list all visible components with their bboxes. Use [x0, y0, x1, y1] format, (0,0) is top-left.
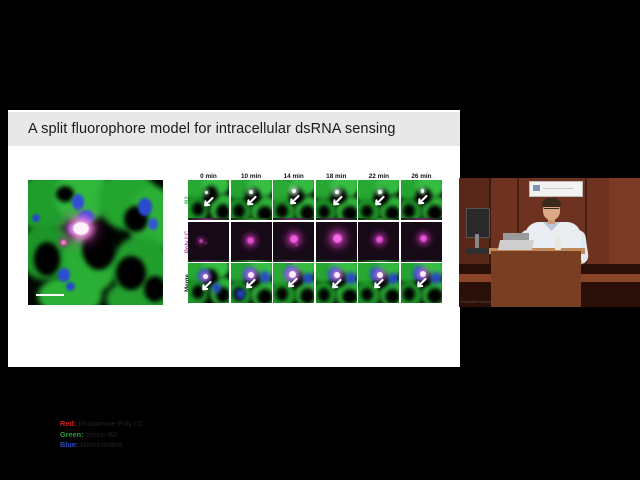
- montage-row-b2: B2: [188, 180, 444, 220]
- screen-thumbnail-icon: [533, 185, 540, 191]
- page-title: A split fluorophore model for intracellu…: [8, 121, 396, 137]
- legend-value-blue: Mitochondria: [78, 440, 122, 449]
- slide-title-band: A split fluorophore model for intracellu…: [8, 112, 460, 146]
- legend-key-blue: Blue:: [60, 440, 78, 449]
- legend-item-blue: Blue: Mitochondria: [60, 440, 143, 451]
- montage-panel: [401, 180, 442, 220]
- timepoint-label: 22 min: [358, 173, 399, 180]
- montage-panel: [188, 180, 229, 220]
- legend-key-green: Green:: [60, 430, 84, 439]
- podium: [491, 251, 581, 307]
- screen-text-line: [543, 188, 573, 189]
- scale-bar: [36, 294, 64, 297]
- montage-row-polyic: Poly I:C: [188, 222, 444, 262]
- timepoint-header-row: 0 min 10 min 14 min 18 min 22 min 26 min: [188, 165, 444, 180]
- timepoint-label: 10 min: [231, 173, 272, 180]
- montage-panel: [273, 222, 314, 262]
- speaker-glasses: [544, 208, 559, 212]
- timepoint-label: 26 min: [401, 173, 442, 180]
- montage-panel: [188, 222, 229, 262]
- legend-value-green: Venus-B2: [84, 430, 118, 439]
- speaker-hair: [542, 198, 561, 207]
- legend-item-red: Red: Rhodamine Poly I:C: [60, 419, 143, 430]
- timepoint-label: 14 min: [273, 173, 314, 180]
- timepoint-label: 0 min: [188, 173, 229, 180]
- montage-panel: [273, 263, 314, 303]
- polyic-punctum-secondary: [61, 240, 66, 245]
- montage-panel: [316, 222, 357, 262]
- monitor-base: [465, 248, 489, 254]
- montage-panel: [231, 180, 272, 220]
- video-stage: A split fluorophore model for intracellu…: [0, 0, 640, 480]
- pointer-arrow-icon: [201, 196, 214, 209]
- montage-panel: [401, 263, 442, 303]
- projection-screen: [529, 181, 583, 197]
- montage-row-merge: Merge: [188, 263, 444, 303]
- montage-panel: [401, 222, 442, 262]
- water-bottle: [555, 236, 561, 250]
- montage-panel: [231, 222, 272, 262]
- legend-value-red: Rhodamine Poly I:C: [76, 419, 143, 428]
- timelapse-montage: 0 min 10 min 14 min 18 min 22 min 26 min…: [188, 165, 444, 305]
- montage-panel: [358, 180, 399, 220]
- timepoint-label: 18 min: [316, 173, 357, 180]
- polyic-punctum-primary: [73, 222, 89, 235]
- montage-panel: [273, 180, 314, 220]
- channel-legend: Red: Rhodamine Poly I:C Green: Venus-B2 …: [60, 419, 143, 451]
- video-watermark: Rockefeller University: [461, 300, 494, 304]
- laptop-base: [498, 240, 534, 250]
- speaker-video-panel[interactable]: Rockefeller University: [459, 178, 640, 307]
- montage-panel: [358, 222, 399, 262]
- montage-panel: [316, 263, 357, 303]
- montage-panel: [316, 180, 357, 220]
- legend-item-green: Green: Venus-B2: [60, 430, 143, 441]
- montage-panel: [358, 263, 399, 303]
- legend-key-red: Red:: [60, 419, 76, 428]
- micrograph-canvas: [28, 180, 163, 305]
- montage-panel: [231, 263, 272, 303]
- montage-panel: [188, 263, 229, 303]
- overview-micrograph: [28, 180, 163, 305]
